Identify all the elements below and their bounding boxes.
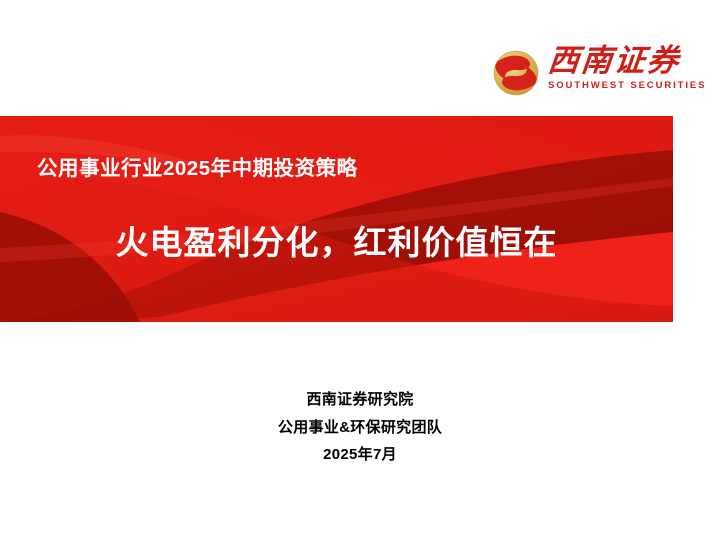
title-banner: 公用事业行业2025年中期投资策略 火电盈利分化，红利价值恒在 — [0, 116, 673, 322]
credit-line-date: 2025年7月 — [0, 441, 720, 469]
slide-main-title: 火电盈利分化，红利价值恒在 — [0, 222, 673, 264]
presentation-title-slide: 西南证券 SOUTHWEST SECURITIES — [0, 0, 720, 540]
credit-line-institute: 西南证券研究院 — [0, 386, 720, 414]
company-logo: 西南证券 SOUTHWEST SECURITIES — [493, 44, 693, 106]
logo-english-name: SOUTHWEST SECURITIES — [548, 80, 706, 91]
southwest-securities-emblem-icon — [493, 50, 539, 96]
slide-subtitle: 公用事业行业2025年中期投资策略 — [37, 156, 358, 182]
logo-chinese-name: 西南证券 — [546, 44, 708, 78]
credit-line-team: 公用事业&环保研究团队 — [0, 414, 720, 442]
credits-block: 西南证券研究院 公用事业&环保研究团队 2025年7月 — [0, 386, 720, 469]
banner-text-group: 公用事业行业2025年中期投资策略 火电盈利分化，红利价值恒在 — [0, 116, 673, 322]
logo-wordmark: 西南证券 SOUTHWEST SECURITIES — [548, 44, 706, 91]
